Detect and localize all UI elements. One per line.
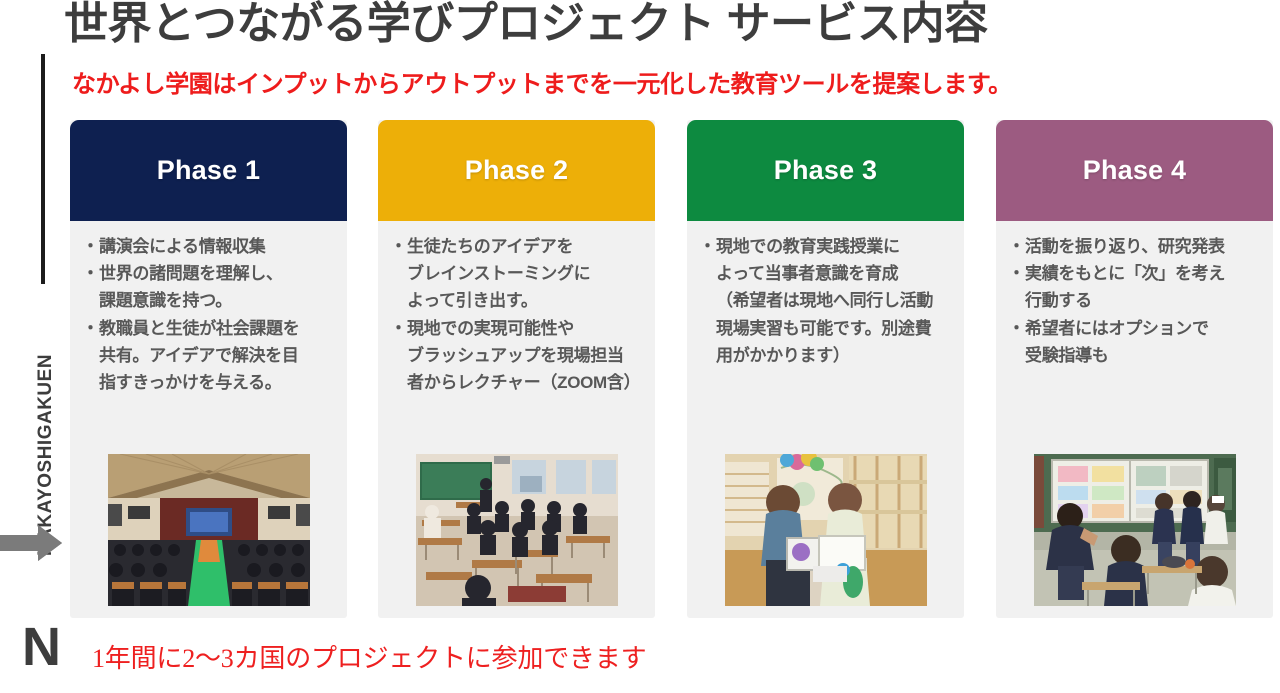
list-item: 課題意識を持つ。	[84, 287, 335, 314]
page-subtitle: なかよし学園はインプットからアウトプットまでを一元化した教育ツールを提案します。	[72, 64, 1012, 99]
page-title: 世界とつながる学びプロジェクト サービス内容	[64, 0, 987, 50]
phase-card-header: Phase 3	[687, 120, 964, 221]
phase-bullet-list: 生徒たちのアイデアを ブレインストーミングに よって引き出す。 現地での実現可能…	[392, 233, 643, 396]
flow-arrow	[0, 523, 62, 563]
phase-card-header: Phase 4	[996, 120, 1273, 221]
list-item: よって引き出す。	[392, 287, 643, 314]
phase-card-title: Phase 2	[465, 155, 568, 186]
list-item: 指すきっかけを与える。	[84, 369, 335, 396]
list-item: 講演会による情報収集	[84, 233, 335, 260]
list-item: 希望者にはオプションで	[1010, 315, 1261, 342]
list-item: 現場実習も可能です。別途費	[701, 315, 952, 342]
brand-logo-mark: N	[22, 620, 61, 674]
list-item: 生徒たちのアイデアを	[392, 233, 643, 260]
school-assembly-hall-photo	[108, 454, 310, 606]
phase-card-body: 講演会による情報収集 世界の諸問題を理解し、 課題意識を持つ。 教職員と生徒が社…	[70, 221, 347, 396]
list-item: （希望者は現地へ同行し活動	[701, 287, 952, 314]
list-item: 共有。アイデアで解決を目	[84, 342, 335, 369]
list-item: ブラッシュアップを現場担当	[392, 342, 643, 369]
list-item: ブレインストーミングに	[392, 260, 643, 287]
phase-card-header: Phase 1	[70, 120, 347, 221]
phase-card-body: 活動を振り返り、研究発表 実績をもとに「次」を考え 行動する 希望者にはオプショ…	[996, 221, 1273, 369]
brand-vertical-rule	[41, 54, 45, 284]
phase-card-row: Phase 1 講演会による情報収集 世界の諸問題を理解し、 課題意識を持つ。 …	[70, 120, 1260, 620]
list-item: 現地での教育実践授業に	[701, 233, 952, 260]
list-item: 用がかかります）	[701, 342, 952, 369]
footer-note: 1年間に2〜3カ国のプロジェクトに参加できます	[92, 638, 646, 675]
phase-bullet-list: 現地での教育実践授業に よって当事者意識を育成 （希望者は現地へ同行し活動 現場…	[701, 233, 952, 369]
overseas-classroom-handover-photo	[725, 454, 927, 606]
list-item: 世界の諸問題を理解し、	[84, 260, 335, 287]
student-poster-presentation-photo	[1034, 454, 1236, 606]
phase-card[interactable]: Phase 4 活動を振り返り、研究発表 実績をもとに「次」を考え 行動する 希…	[996, 120, 1273, 618]
phase-card-header: Phase 2	[378, 120, 655, 221]
classroom-group-session-photo	[416, 454, 618, 606]
phase-card-body: 現地での教育実践授業に よって当事者意識を育成 （希望者は現地へ同行し活動 現場…	[687, 221, 964, 369]
list-item: 活動を振り返り、研究発表	[1010, 233, 1261, 260]
list-item: 行動する	[1010, 287, 1261, 314]
list-item: 現地での実現可能性や	[392, 315, 643, 342]
list-item: 者からレクチャー（ZOOM含）	[392, 369, 643, 396]
list-item: 受験指導も	[1010, 342, 1261, 369]
phase-bullet-list: 講演会による情報収集 世界の諸問題を理解し、 課題意識を持つ。 教職員と生徒が社…	[84, 233, 335, 396]
list-item: 実績をもとに「次」を考え	[1010, 260, 1261, 287]
brand-vertical-label: NAKAYOSHIGAKUEN	[26, 300, 66, 610]
phase-card-title: Phase 3	[774, 155, 877, 186]
phase-card[interactable]: Phase 2 生徒たちのアイデアを ブレインストーミングに よって引き出す。 …	[378, 120, 655, 618]
phase-card-body: 生徒たちのアイデアを ブレインストーミングに よって引き出す。 現地での実現可能…	[378, 221, 655, 396]
list-item: 教職員と生徒が社会課題を	[84, 315, 335, 342]
phase-card[interactable]: Phase 1 講演会による情報収集 世界の諸問題を理解し、 課題意識を持つ。 …	[70, 120, 347, 618]
phase-card[interactable]: Phase 3 現地での教育実践授業に よって当事者意識を育成 （希望者は現地へ…	[687, 120, 964, 618]
phase-card-title: Phase 1	[157, 155, 260, 186]
phase-card-title: Phase 4	[1083, 155, 1186, 186]
phase-bullet-list: 活動を振り返り、研究発表 実績をもとに「次」を考え 行動する 希望者にはオプショ…	[1010, 233, 1261, 369]
list-item: よって当事者意識を育成	[701, 260, 952, 287]
